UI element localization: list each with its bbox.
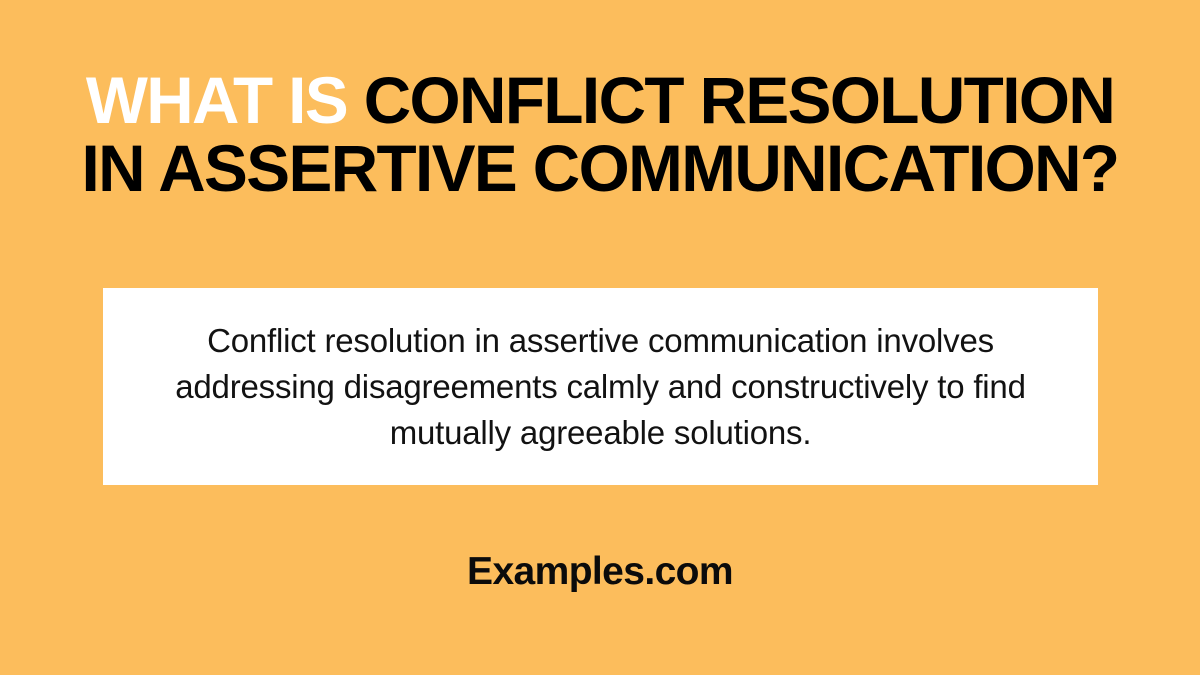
- title-line-1-rest: CONFLICT RESOLUTION: [364, 63, 1114, 137]
- brand-footer: Examples.com: [0, 550, 1200, 594]
- title-line-1: WHAT IS CONFLICT RESOLUTION: [47, 66, 1153, 134]
- slide-canvas: WHAT IS CONFLICT RESOLUTION IN ASSERTIVE…: [0, 0, 1200, 675]
- page-title: WHAT IS CONFLICT RESOLUTION IN ASSERTIVE…: [0, 66, 1200, 202]
- title-highlight-text: WHAT IS: [86, 63, 347, 137]
- title-line-2: IN ASSERTIVE COMMUNICATION?: [47, 134, 1153, 202]
- description-card: Conflict resolution in assertive communi…: [103, 288, 1098, 485]
- description-text: Conflict resolution in assertive communi…: [133, 318, 1069, 456]
